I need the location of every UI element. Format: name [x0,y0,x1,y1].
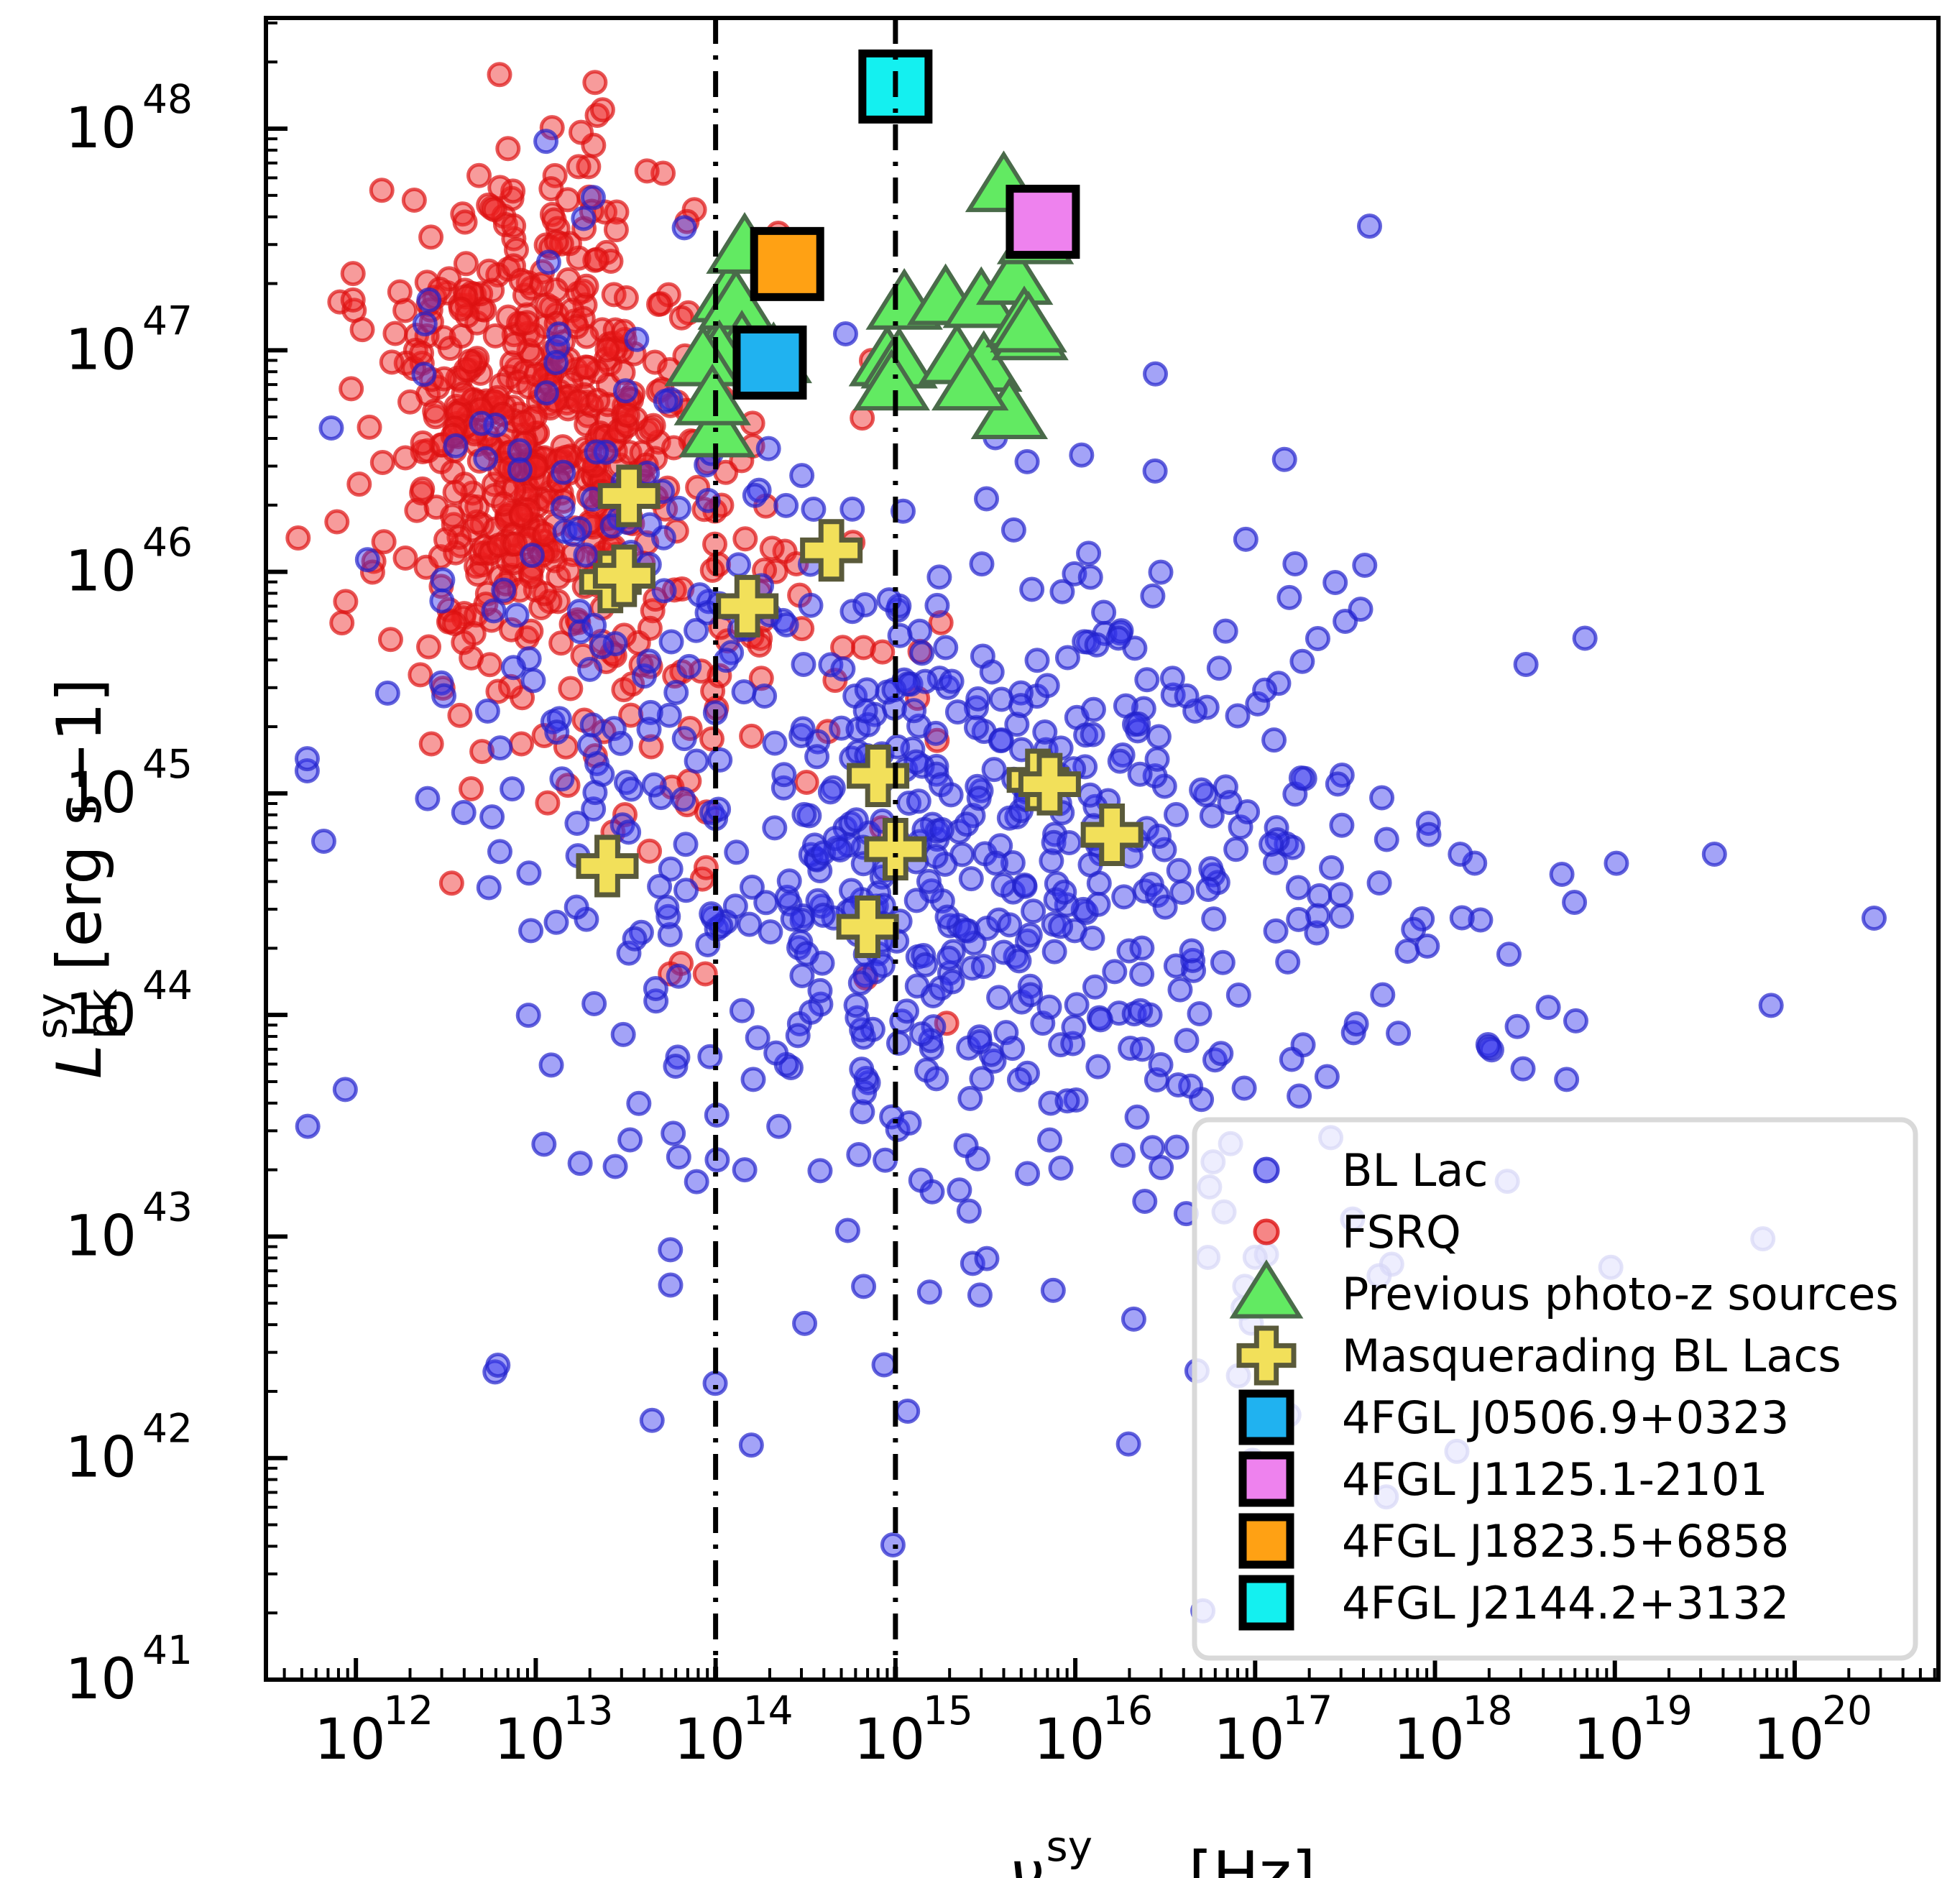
scatter-point [889,625,911,646]
scatter-point [897,1400,919,1422]
scatter-point [1703,843,1725,865]
svg-text:L: L [44,1044,116,1079]
scatter-point [543,209,565,231]
scatter-point [908,791,929,812]
scatter-point [420,733,442,755]
scatter-point [433,685,455,706]
scatter-point [837,1220,858,1241]
scatter-point [947,701,968,723]
scatter-point [776,614,797,635]
scatter-point [455,253,477,275]
svg-text:10: 10 [1213,1708,1284,1772]
scatter-point [1261,834,1282,855]
scatter-point [1292,650,1313,672]
scatter-point [958,1200,980,1222]
scatter-point [1093,602,1115,623]
scatter-point [845,995,867,1016]
scatter-point [1225,839,1247,860]
scatter-point [395,548,416,569]
scatter-point [643,774,665,796]
scatter-point [379,629,401,650]
scatter-point [1112,1144,1133,1166]
scatter-point [1606,852,1627,874]
scatter-point [479,654,500,676]
scatter-point [747,1027,768,1049]
scatter-point [560,678,581,699]
scatter-point [610,732,632,754]
scatter-point [442,505,464,527]
scatter-point [483,600,505,622]
svg-text:42: 42 [142,1406,193,1452]
svg-text:48: 48 [142,76,193,122]
scatter-point [591,636,612,658]
scatter-point [668,1146,689,1168]
scatter-point [432,569,454,591]
scatter-point [520,920,542,942]
scatter-point [546,352,567,374]
scatter-point [709,749,731,770]
scatter-point [331,612,353,634]
scatter-point [701,903,722,925]
scatter-point [701,560,723,581]
scatter-point [624,928,645,949]
scatter-point [853,1276,875,1297]
scatter-point [510,270,532,291]
scatter-point [1014,875,1036,897]
scatter-point [929,566,950,588]
scatter-point [412,478,433,500]
scatter-point [1134,1191,1156,1212]
scatter-point [1418,824,1440,845]
scatter-point [1113,886,1135,908]
scatter-point [851,1059,873,1080]
svg-text:17: 17 [1282,1688,1333,1734]
scatter-point [1082,699,1104,720]
scatter-point [1210,1043,1232,1064]
scatter-point [1330,906,1352,927]
svg-text:pk: pk [78,988,126,1039]
scatter-point [976,488,998,510]
scatter-point [342,289,364,310]
scatter-point [1008,1069,1030,1090]
scatter-point [1130,1000,1151,1021]
scatter-point [968,788,990,809]
svg-text:10: 10 [1753,1708,1824,1772]
scatter-point [778,870,800,892]
scatter-point [1287,877,1309,898]
scatter-point [342,263,364,285]
svg-text:14: 14 [743,1688,793,1734]
scatter-point [517,1005,539,1026]
scatter-point [1149,826,1170,847]
scatter-point [755,892,777,913]
figure-root: 1012101310141015101610171018101910201041… [0,0,1960,1878]
scatter-point [1208,658,1230,679]
scatter-point [1128,713,1149,735]
scatter-point [571,121,592,143]
scatter-point [1254,679,1276,701]
scatter-point [453,801,474,823]
scatter-point [660,1274,681,1296]
scatter-point [641,1409,663,1431]
scatter-point [793,804,815,825]
scatter-point [1863,908,1885,929]
scatter-point [733,681,755,703]
scatter-point [604,1156,626,1177]
scatter-point [1145,363,1167,385]
scatter-point [1203,908,1225,930]
scatter-point [475,448,497,469]
scatter-point [535,131,557,152]
scatter-point [1154,896,1176,918]
legend-label: Previous photo-z sources [1342,1268,1899,1320]
scatter-point [597,339,618,361]
scatter-point [776,494,797,516]
scatter-point [1003,519,1024,540]
scatter-point [615,287,637,308]
scatter-point [1010,695,1031,717]
scatter-point [896,1000,918,1022]
scatter-point [855,594,876,615]
scatter-point [1109,750,1131,772]
scatter-point [1086,634,1108,655]
svg-text:10: 10 [314,1708,385,1772]
scatter-point [926,594,948,616]
scatter-point [1082,927,1103,949]
legend[interactable]: BL LacFSRQPrevious photo-z sourcesMasque… [1195,1120,1915,1658]
svg-text:19: 19 [1642,1688,1693,1734]
scatter-point [569,1153,591,1174]
scatter-point [1161,668,1183,689]
scatter-point [787,1025,809,1046]
scatter-point [349,474,370,495]
scatter-point [620,1129,641,1151]
scatter-point [1388,1023,1409,1044]
scatter-point [660,1239,681,1261]
legend-label: BL Lac [1342,1144,1488,1197]
svg-text:10: 10 [65,1647,137,1712]
scatter-point [969,1031,990,1052]
scatter-point [636,160,658,182]
scatter-point [1215,620,1236,642]
scatter-point [791,965,813,986]
scatter-point [794,1312,816,1334]
svg-text:10: 10 [65,318,137,382]
scatter-point [741,725,763,747]
scatter-point [981,661,1003,683]
legend-label: 4FGL J2144.2+3132 [1342,1577,1789,1629]
scatter-point [575,544,597,566]
scatter-point [740,1435,762,1456]
scatter-point [803,499,824,520]
scatter-marker-square [1010,189,1076,255]
scatter-point [653,580,675,602]
scatter-point [988,987,1010,1008]
svg-text:10: 10 [65,540,137,604]
scatter-point [573,208,594,229]
scatter-point [875,1149,896,1171]
scatter-point [1016,451,1038,472]
scatter-point [582,187,604,208]
scatter-point [552,497,574,519]
scatter-point [801,1001,822,1023]
svg-text:ν: ν [1009,1838,1044,1878]
scatter-point [1264,729,1285,751]
scatter-point [906,975,928,997]
scatter-point [800,594,822,616]
scatter-point [1167,1074,1189,1095]
scatter-point [509,459,530,481]
scatter-point [792,718,814,740]
scatter-point [1026,650,1048,671]
scatter-point [287,528,309,549]
scatter-point [581,714,603,736]
scatter-point [461,778,482,800]
scatter-point [1358,216,1380,237]
scatter-point [686,620,707,641]
scatter-point [551,768,573,790]
scatter-point [326,511,348,533]
scatter-point [1066,994,1087,1016]
scatter-point [1233,1077,1255,1099]
scatter-point [620,778,642,800]
scatter-point [1506,1016,1528,1037]
scatter-point [489,737,511,759]
scatter-point [1290,767,1312,788]
scatter-point [935,637,957,658]
svg-text:46: 46 [142,520,193,566]
scatter-point [1498,944,1519,965]
scatter-point [1512,1058,1534,1080]
scatter-point [656,897,678,919]
scatter-point [940,784,962,806]
scatter-point [469,165,490,186]
scatter-point [436,529,457,551]
scatter-point [897,673,919,695]
scatter-point [413,364,435,385]
scatter-point [661,631,682,653]
scatter-point [834,323,856,344]
scatter-point [1108,627,1129,649]
scatter-point [444,482,466,503]
scatter-point [639,840,661,862]
scatter-point [1080,566,1101,588]
scatter-point [459,351,481,372]
scatter-point [764,732,786,754]
scatter-point [521,545,543,566]
scatter-point [671,307,692,328]
scatter-point [812,904,834,926]
scatter-point [856,679,878,701]
svg-text:10: 10 [1034,1708,1105,1772]
scatter-point [675,834,696,855]
scatter-point [321,417,342,438]
legend-label: 4FGL J0506.9+0323 [1342,1391,1789,1444]
scatter-point [638,719,660,740]
scatter-point [334,1079,356,1100]
scatter-point [493,579,515,601]
scatter-point [1080,854,1101,875]
scatter-marker-square [1243,1455,1290,1503]
scatter-point [537,792,558,814]
scatter-point [791,465,813,487]
scatter-point [809,1160,831,1182]
scatter-point [686,750,707,772]
scatter-point [937,906,958,928]
scatter-point [1057,1090,1078,1112]
scatter-point [925,722,947,744]
scatter-point [410,664,431,686]
scatter-point [735,528,756,550]
scatter-point [1131,937,1153,959]
scatter-point [938,947,960,969]
scatter-point [782,908,804,930]
scatter-point [1150,1054,1172,1075]
scatter-point [503,215,525,236]
scatter-marker-square [1243,1517,1290,1565]
scatter-point [1136,669,1158,691]
scatter-point [649,875,671,897]
scatter-point [605,219,627,241]
scatter-point [1451,907,1473,929]
scatter-point [796,943,817,965]
scatter-point [546,280,567,301]
scatter-point [313,831,334,852]
scatter-point [1071,444,1092,466]
scatter-marker-square [737,329,803,395]
scatter-point [617,405,638,426]
scatter-point [417,788,438,809]
svg-text:pk, rest: pk, rest [1046,1872,1204,1878]
scatter-point [960,868,982,890]
scatter-point [1265,920,1287,942]
scatter-point [513,412,535,433]
scatter-point [424,400,446,422]
scatter-point [1760,995,1782,1016]
legend-label: FSRQ [1342,1206,1461,1258]
scatter-point [668,965,689,987]
scatter-point [1350,599,1371,620]
svg-text:44: 44 [142,962,193,1008]
scatter-point [482,806,503,828]
scatter-point [1150,561,1172,583]
scatter-point [372,452,393,474]
scatter-point [960,1087,981,1109]
scatter-point [639,514,661,535]
scatter-point [1372,984,1394,1005]
scatter-point [540,178,562,200]
scatter-point [888,1032,909,1054]
scatter-point [546,231,567,253]
scatter-point [487,1354,509,1376]
scatter-point [921,1181,943,1202]
scatter-plot-figure: 1012101310141015101610171018101910201041… [0,0,1960,1878]
scatter-point [918,870,939,892]
scatter-point [506,604,528,626]
scatter-point [971,1068,993,1090]
scatter-point [668,497,689,519]
scatter-point [1131,963,1153,985]
scatter-point [1478,1036,1500,1058]
svg-text:45: 45 [142,741,193,787]
scatter-point [371,180,392,201]
scatter-point [663,1123,684,1144]
scatter-point [533,1133,555,1155]
scatter-point [586,249,607,270]
svg-text:10: 10 [1573,1708,1644,1772]
scatter-point [471,413,492,434]
scatter-point [1039,996,1060,1018]
scatter-point [1126,1106,1148,1128]
legend-label: Masquerading BL Lacs [1342,1330,1841,1382]
scatter-point [1574,627,1596,649]
scatter-point [414,313,436,335]
svg-text:10: 10 [65,1426,137,1491]
series-4fgl-j1823.5+6858 [754,231,820,297]
scatter-point [1255,1220,1278,1243]
scatter-point [411,342,433,364]
svg-text:10: 10 [65,96,137,161]
scatter-point [845,809,867,831]
scatter-point [395,300,416,321]
svg-text:10: 10 [65,1204,137,1269]
scatter-point [742,1069,764,1090]
scatter-point [1042,1279,1064,1301]
scatter-point [898,1113,920,1134]
series-4fgl-j1125.1-2101 [1010,189,1076,255]
scatter-point [584,993,605,1014]
scatter-point [796,772,817,793]
scatter-point [586,441,607,463]
scatter-point [489,177,511,198]
scatter-point [1515,654,1537,676]
scatter-point [1054,881,1075,903]
scatter-point [546,911,567,933]
scatter-point [516,312,538,333]
scatter-point [1288,908,1310,930]
scatter-point [576,275,597,297]
scatter-marker-square [754,231,820,297]
scatter-point [503,657,525,678]
scatter-point [626,328,648,350]
scatter-point [592,763,613,785]
scatter-marker-square [1243,1394,1290,1441]
scatter-point [701,728,723,750]
scatter-point [758,438,779,459]
scatter-point [1227,705,1248,727]
scatter-point [569,518,591,540]
scatter-point [484,199,505,221]
scatter-point [1200,858,1222,880]
scatter-point [708,798,730,820]
scatter-point [903,700,925,722]
scatter-point [1034,721,1056,742]
svg-text:18: 18 [1463,1688,1513,1734]
scatter-point [1129,763,1151,785]
scatter-point [673,788,694,810]
scatter-point [1118,1433,1139,1455]
scatter-point [638,650,660,672]
svg-text:sy: sy [27,993,76,1039]
scatter-point [1235,528,1256,550]
scatter-point [579,735,600,756]
scatter-point [1556,1069,1578,1090]
scatter-point [449,704,471,726]
scatter-point [1090,1009,1111,1031]
scatter-point [1345,1013,1367,1035]
scatter-point [534,523,556,545]
scatter-point [1279,586,1300,608]
